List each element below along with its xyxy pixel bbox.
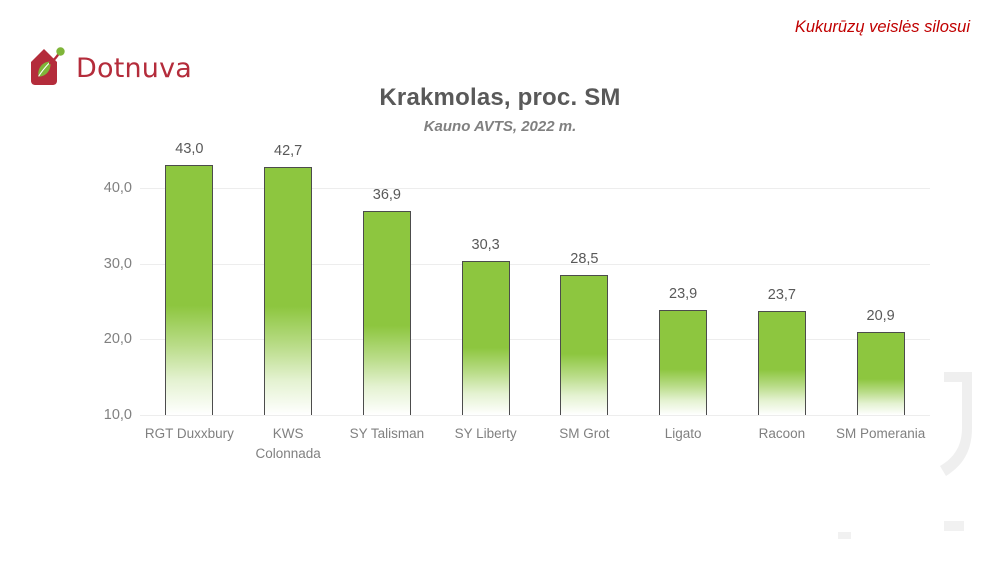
gridline <box>140 188 930 189</box>
x-axis-category-label: Racoon <box>734 424 830 444</box>
gridline <box>140 415 930 416</box>
bar-value-label: 42,7 <box>248 143 328 159</box>
x-axis-category-label: KWS Colonnada <box>240 424 336 463</box>
decorative-chip <box>944 521 964 531</box>
decorative-hook-icon <box>938 370 978 480</box>
bar[interactable] <box>165 165 213 415</box>
bar[interactable] <box>857 332 905 415</box>
bar-value-label: 28,5 <box>544 251 624 267</box>
bar[interactable] <box>758 311 806 415</box>
bar[interactable] <box>462 261 510 415</box>
y-axis-tick-label: 40,0 <box>88 180 132 196</box>
bar[interactable] <box>560 275 608 415</box>
x-axis-category-label: SM Grot <box>536 424 632 444</box>
x-axis-category-label: RGT Duxxbury <box>141 424 237 444</box>
y-axis-tick-label: 30,0 <box>88 256 132 272</box>
x-axis-category-label: SY Talisman <box>339 424 435 444</box>
bar-value-label: 43,0 <box>149 141 229 157</box>
x-axis-category-label: Ligato <box>635 424 731 444</box>
chart-plot-area: 10,020,030,040,043,0RGT Duxxbury42,7KWS … <box>140 150 930 415</box>
bar-value-label: 20,9 <box>841 308 921 324</box>
bar-value-label: 23,7 <box>742 287 822 303</box>
slide-kicker: Kukurūzų veislės silosui <box>795 18 970 37</box>
slide-canvas: Dotnuva Kukurūzų veislės silosui Krakmol… <box>0 0 1000 563</box>
bar-value-label: 23,9 <box>643 286 723 302</box>
bar-value-label: 36,9 <box>347 187 427 203</box>
chart-title: Krakmolas, proc. SM <box>0 84 1000 112</box>
gridline <box>140 339 930 340</box>
gridline <box>140 264 930 265</box>
decorative-chip <box>838 532 851 539</box>
x-axis-category-label: SY Liberty <box>438 424 534 444</box>
y-axis-tick-label: 20,0 <box>88 331 132 347</box>
x-axis-category-label: SM Pomerania <box>833 424 929 444</box>
bar[interactable] <box>363 211 411 415</box>
bar-value-label: 30,3 <box>446 237 526 253</box>
logo-wordmark: Dotnuva <box>76 55 192 82</box>
y-axis-tick-label: 10,0 <box>88 407 132 423</box>
bar[interactable] <box>264 167 312 415</box>
bar[interactable] <box>659 310 707 415</box>
chart-subtitle: Kauno AVTS, 2022 m. <box>0 118 1000 135</box>
